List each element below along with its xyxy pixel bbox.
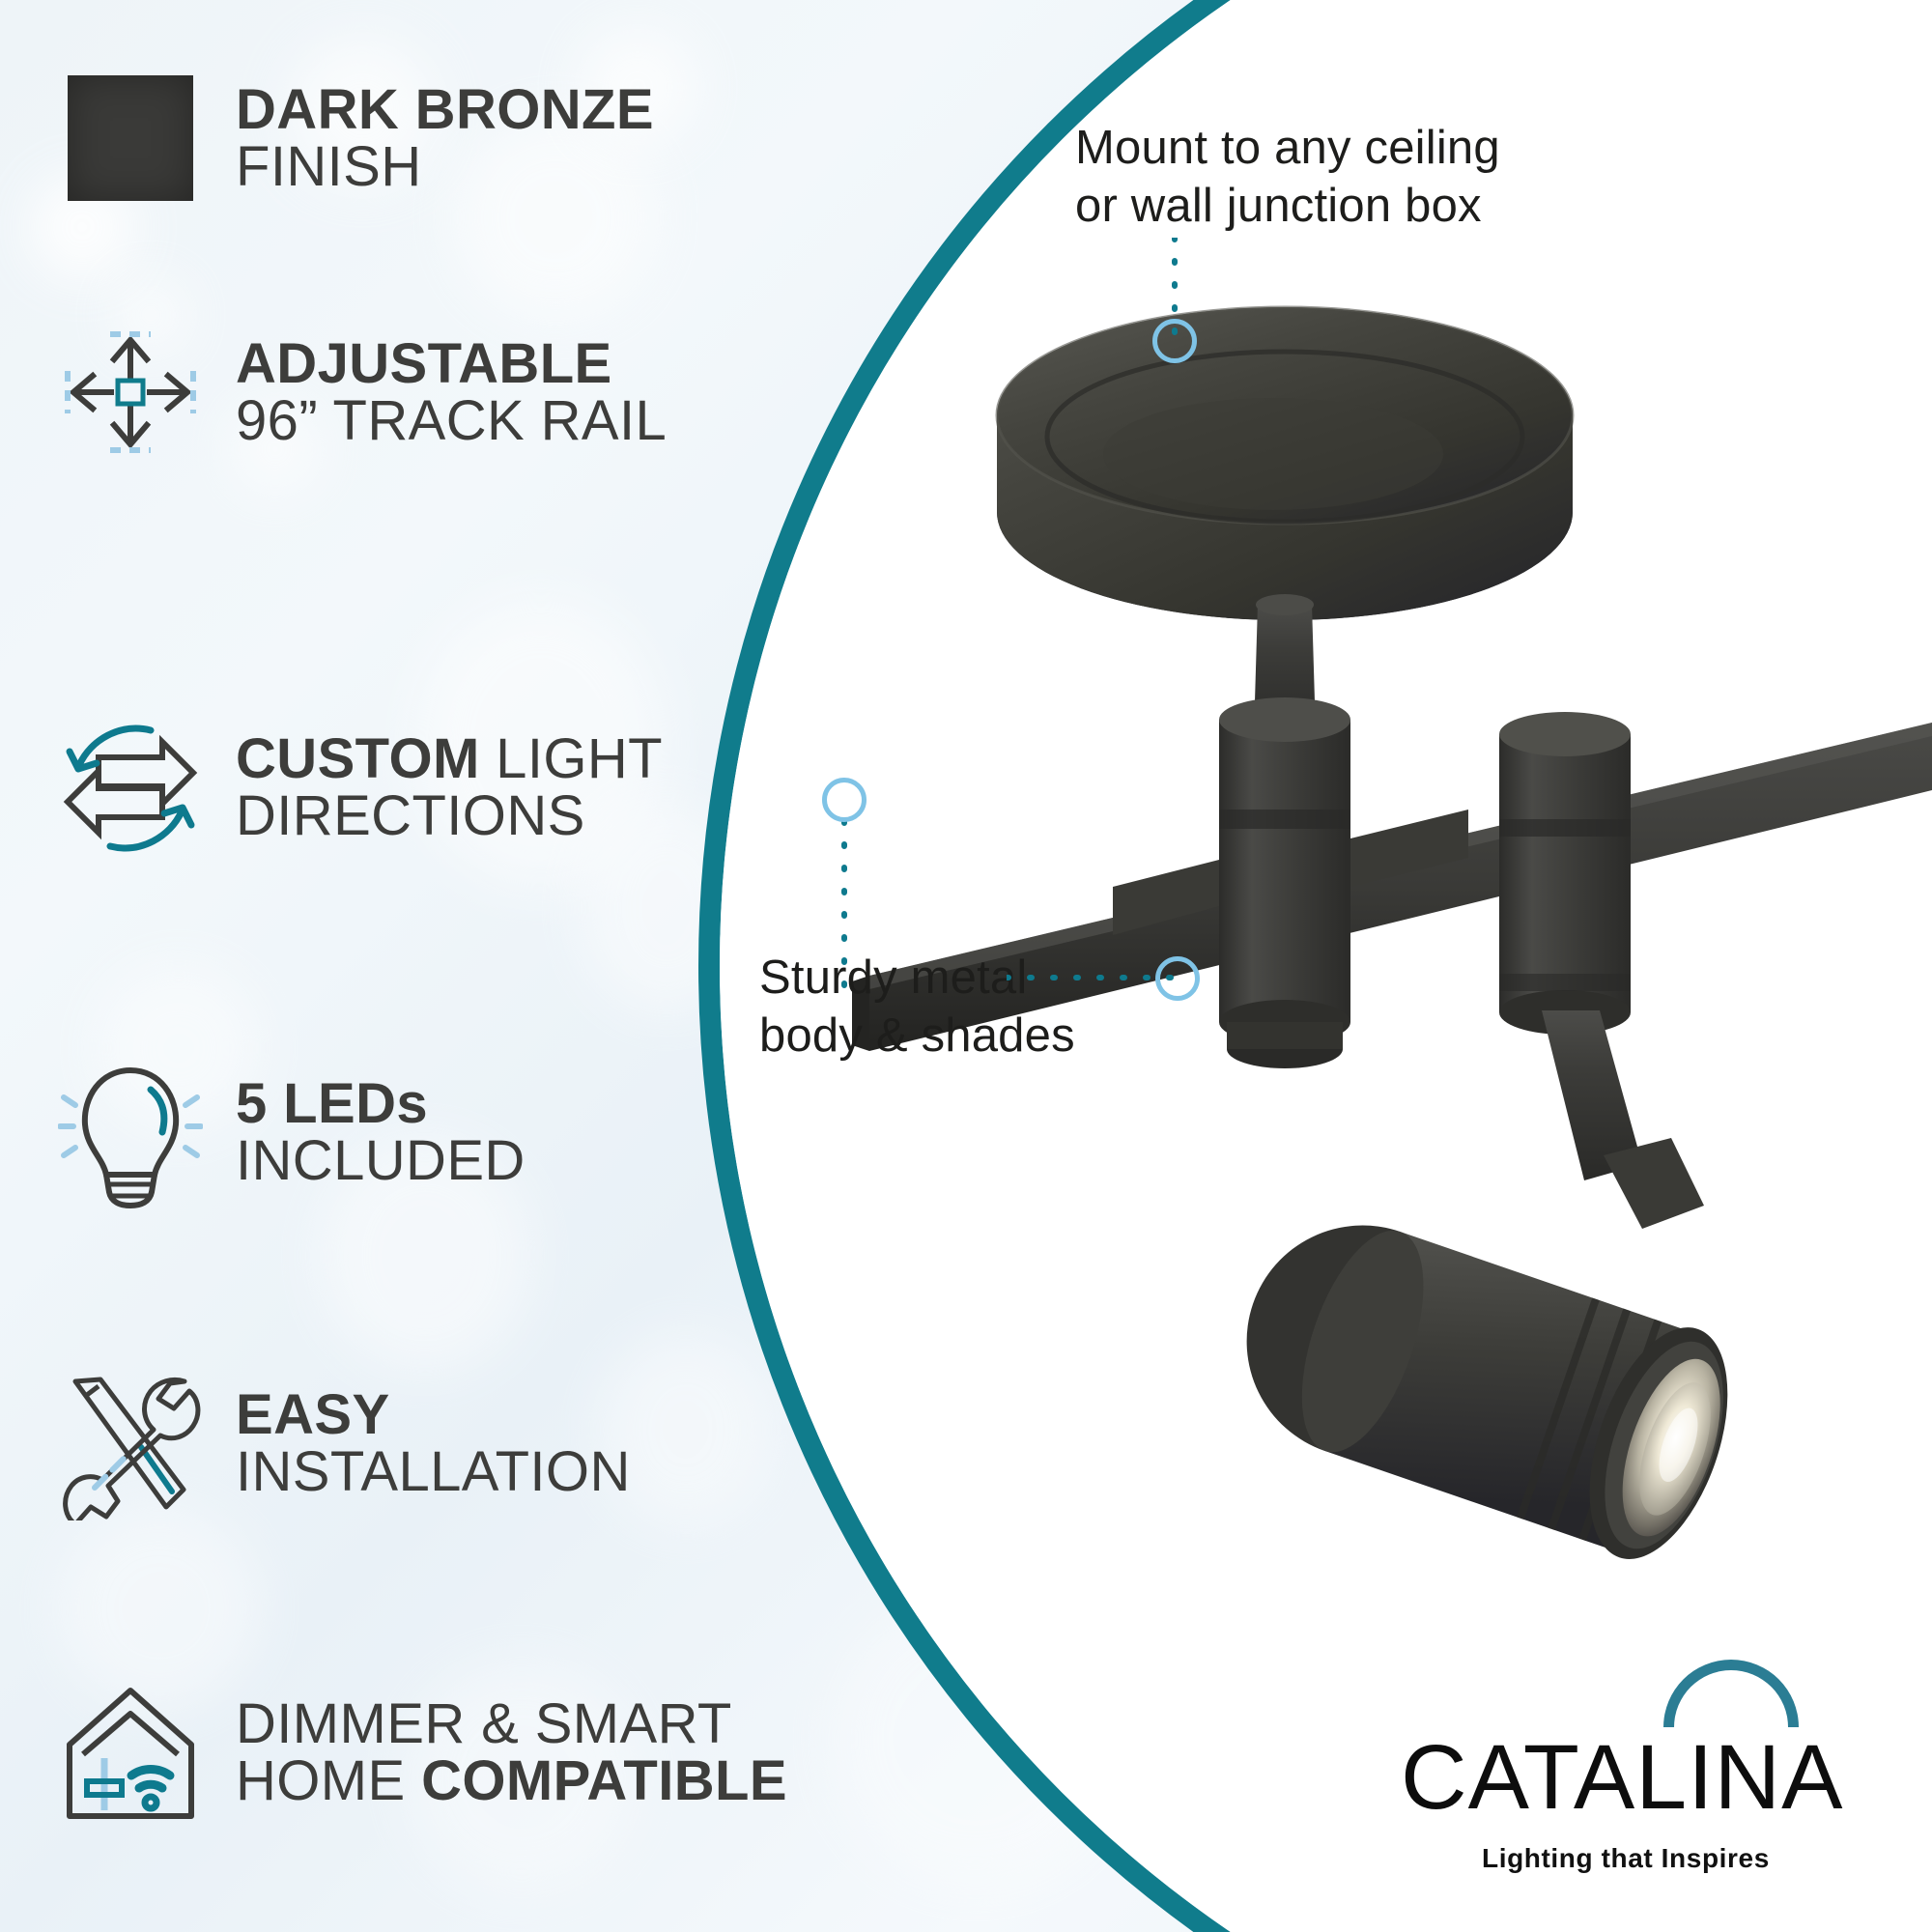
- four-way-arrow-icon: [58, 325, 203, 460]
- callout-marker-shade: [1155, 956, 1200, 1001]
- feature-text: ADJUSTABLE 96” TRACK RAIL: [236, 335, 667, 449]
- callout-mount-to-ceiling: Mount to any ceiling or wall junction bo…: [1075, 120, 1500, 236]
- callout-line-2: or wall junction box: [1075, 178, 1500, 236]
- feature-smart-home: DIMMER & SMART HOME COMPATIBLE: [58, 1675, 787, 1830]
- callout-marker-canopy: [1152, 319, 1197, 363]
- wrench-screwdriver-icon: [58, 1366, 203, 1520]
- logo-tagline: Lighting that Inspires: [1482, 1843, 1770, 1874]
- feature-text: EASY INSTALLATION: [236, 1386, 631, 1500]
- feature-list: DARK BRONZE FINISH: [0, 0, 734, 1932]
- smart-home-dimmer-icon: [58, 1675, 203, 1830]
- feature-easy-installation: EASY INSTALLATION: [58, 1366, 631, 1520]
- feature-line-1: ADJUSTABLE: [236, 335, 667, 392]
- feature-line-1-bold: CUSTOM: [236, 727, 480, 790]
- callout-sturdy-leader-line-horizontal: [1007, 966, 1180, 989]
- logo-wordmark: CATALINA: [1401, 1725, 1843, 1831]
- feature-line-1: 5 LEDs: [236, 1075, 526, 1132]
- feature-line-2: INSTALLATION: [236, 1443, 631, 1500]
- feature-line-2-bold: COMPATIBLE: [421, 1749, 787, 1812]
- swap-direction-arrows-icon: [58, 715, 203, 860]
- feature-text: DIMMER & SMART HOME COMPATIBLE: [236, 1695, 787, 1809]
- feature-text: CUSTOM LIGHT DIRECTIONS: [236, 730, 663, 844]
- color-swatch-icon: [58, 75, 203, 201]
- feature-line-1: DARK BRONZE: [236, 81, 654, 138]
- feature-line-2: INCLUDED: [236, 1132, 526, 1189]
- infographic-canvas: DARK BRONZE FINISH: [0, 0, 1932, 1932]
- feature-line-2: DIRECTIONS: [236, 787, 663, 844]
- lightbulb-icon: [58, 1055, 203, 1209]
- feature-line-1: EASY: [236, 1386, 631, 1443]
- feature-line-2-light: HOME: [236, 1749, 421, 1812]
- callout-sturdy-leader-line-vertical: [823, 821, 871, 995]
- feature-line-1-light: LIGHT: [480, 727, 663, 790]
- feature-leds-included: 5 LEDs INCLUDED: [58, 1055, 526, 1209]
- feature-line-2: 96” TRACK RAIL: [236, 392, 667, 449]
- feature-text: 5 LEDs INCLUDED: [236, 1075, 526, 1189]
- callout-line-1: Mount to any ceiling: [1075, 120, 1500, 178]
- feature-line-2: FINISH: [236, 138, 654, 195]
- feature-adjustable: ADJUSTABLE 96” TRACK RAIL: [58, 325, 667, 460]
- feature-dark-bronze: DARK BRONZE FINISH: [58, 75, 654, 201]
- feature-line-1: DIMMER & SMART: [236, 1695, 787, 1752]
- feature-custom-light-directions: CUSTOM LIGHT DIRECTIONS: [58, 715, 663, 860]
- feature-text: DARK BRONZE FINISH: [236, 81, 654, 195]
- callout-line-2: body & shades: [759, 1008, 1075, 1065]
- callout-marker-rail: [822, 778, 867, 822]
